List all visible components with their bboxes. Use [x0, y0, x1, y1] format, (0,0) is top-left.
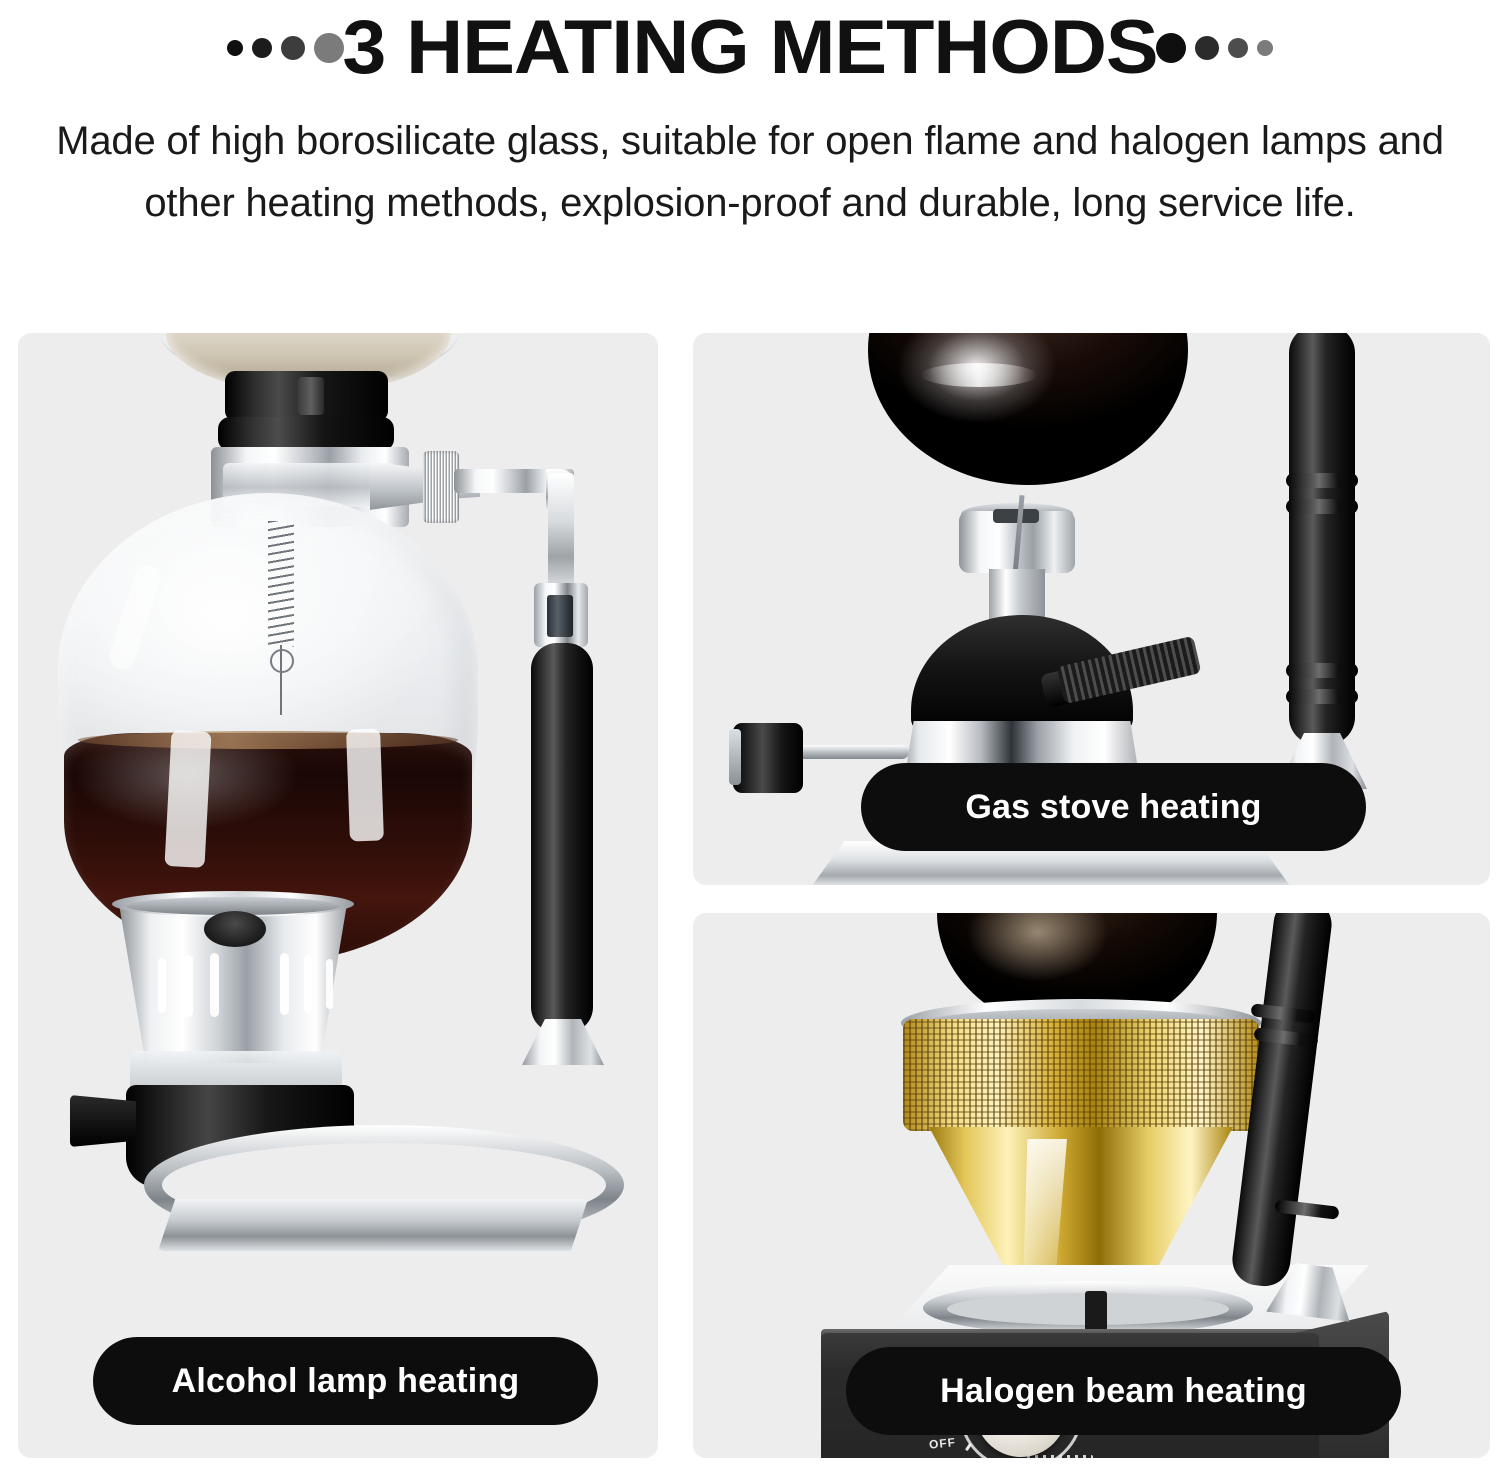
burner-slot — [993, 509, 1039, 523]
siphon-alcohol-lamp-illustration — [18, 333, 658, 1458]
decor-dot-icon — [1156, 33, 1186, 63]
dial-scale-marks — [1027, 1455, 1093, 1458]
globe-highlight — [921, 363, 1037, 387]
filter-spring-coil — [268, 521, 294, 647]
gold-perforated-mesh — [903, 1019, 1259, 1131]
stopper-notch — [298, 377, 324, 415]
chrome-base-plate — [158, 1199, 588, 1251]
chrome-rod-vertical — [548, 473, 574, 593]
handle-ring — [1286, 499, 1358, 514]
handle-ring — [1286, 473, 1358, 488]
handle-ring — [1286, 689, 1358, 704]
rubber-stopper-lower — [218, 417, 394, 451]
rod-ferrule-core — [547, 595, 573, 637]
title-row: 3 HEATING METHODS — [0, 4, 1500, 92]
lamp-wick — [204, 911, 266, 947]
page-title: 3 HEATING METHODS — [342, 10, 1157, 86]
glass-glare — [346, 728, 384, 841]
decor-dot-icon — [1257, 40, 1273, 56]
siphon-globe-dark — [868, 333, 1188, 485]
decor-dots-right — [1156, 33, 1273, 63]
decor-dot-icon — [252, 38, 272, 58]
status-badge-halogen-beam: Halogen beam heating — [846, 1347, 1401, 1435]
page-subtitle: Made of high borosilicate glass, suitabl… — [30, 110, 1470, 234]
handle-foot — [522, 1019, 604, 1065]
gas-knob-cap — [729, 729, 741, 785]
alcohol-lamp-lever — [70, 1095, 136, 1147]
wooden-handle — [531, 643, 593, 1033]
decor-dot-icon — [1228, 38, 1248, 58]
coffee-surface — [78, 731, 458, 749]
filter-hook-icon — [270, 649, 294, 673]
header: 3 HEATING METHODS Made of high borosilic… — [0, 0, 1500, 234]
windshield-vent-slot — [326, 959, 333, 1009]
panel-grid: OFF — [0, 333, 1500, 1467]
decor-dot-icon — [1195, 36, 1219, 60]
glass-glare — [164, 730, 211, 868]
gas-knob-arm — [789, 745, 909, 759]
decor-dots-left — [227, 33, 344, 63]
windshield-vent-slot — [184, 955, 193, 1017]
decor-dot-icon — [227, 40, 243, 56]
wooden-handle — [1289, 333, 1355, 745]
windshield-vent-slot — [158, 958, 166, 1013]
gas-control-knob[interactable] — [733, 723, 803, 793]
windshield-vent-slot — [210, 953, 219, 1017]
handle-ring — [1286, 663, 1358, 678]
status-badge-alcohol-lamp: Alcohol lamp heating — [93, 1337, 598, 1425]
alcohol-lamp-panel — [18, 333, 658, 1458]
windshield-vent-slot — [280, 953, 289, 1015]
windshield-vent-slot — [304, 955, 312, 1013]
decor-dot-icon — [314, 33, 344, 63]
status-badge-gas-stove: Gas stove heating — [861, 763, 1366, 851]
decor-dot-icon — [281, 36, 305, 60]
